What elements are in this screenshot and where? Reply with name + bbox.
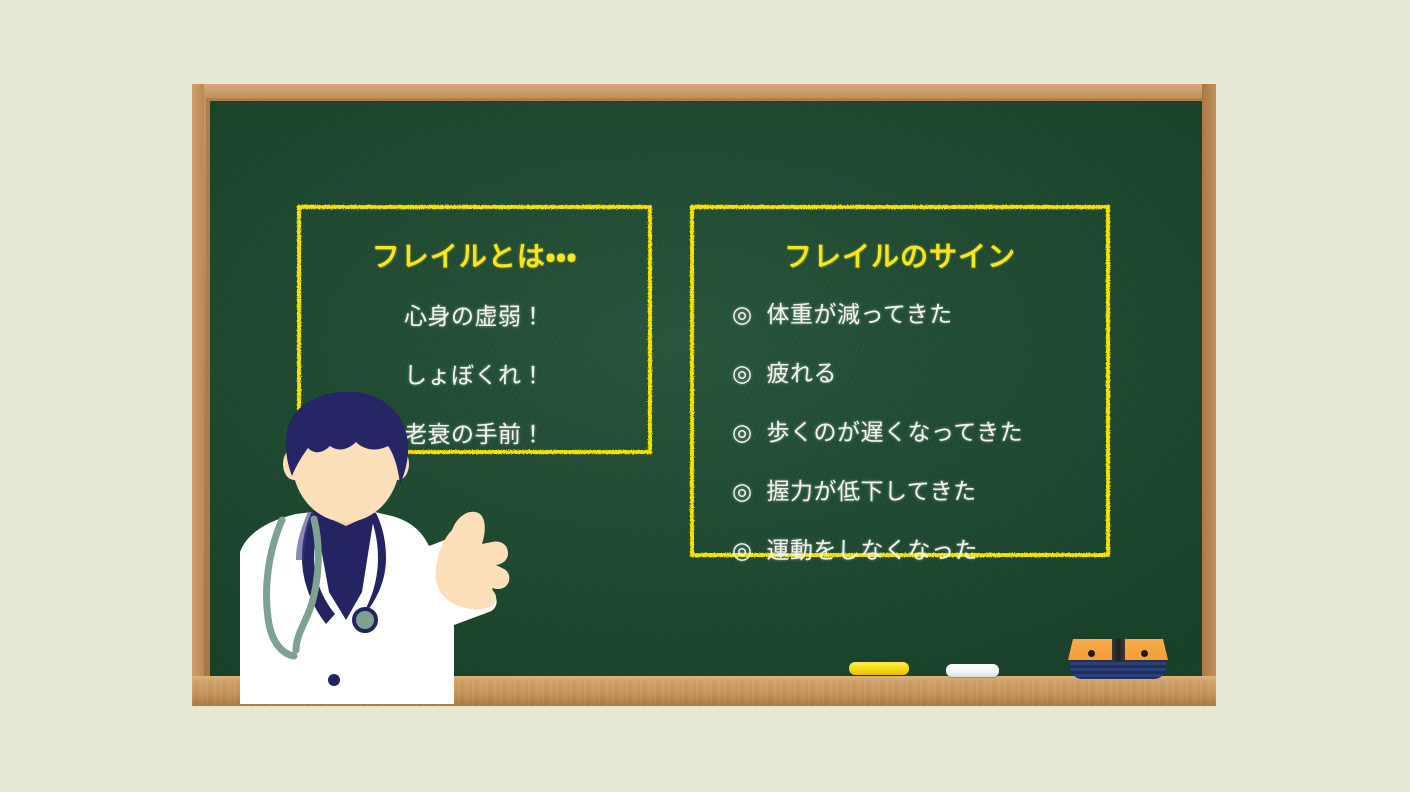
- list-item: ◎ 歩くのが遅くなってきた: [732, 413, 1110, 447]
- white-chalk: [946, 664, 999, 677]
- yellow-chalk: [849, 662, 909, 675]
- stethoscope-chestpiece: [354, 609, 376, 631]
- double-circle-bullet-icon: ◎: [732, 419, 753, 445]
- line-text: 疲れる: [766, 360, 837, 386]
- coat-button: [328, 674, 340, 686]
- blackboard-eraser: [1068, 639, 1168, 679]
- line-text: しょぼくれ！: [404, 362, 545, 388]
- line-text: 心身の虚弱！: [404, 303, 545, 329]
- double-circle-bullet-icon: ◎: [732, 537, 753, 563]
- panel-title-frailty-signs: フレイルのサイン: [690, 235, 1110, 275]
- doctor-illustration: [196, 392, 526, 704]
- list-item: ◎ 握力が低下してきた: [732, 472, 1110, 506]
- line-list-frailty-signs: ◎ 体重が減ってきた ◎ 疲れる ◎ 歩くのが遅くなってきた ◎ 握力が低下して…: [690, 295, 1110, 565]
- list-item: ◎ 体重が減ってきた: [732, 295, 1110, 329]
- line-text: 歩くのが遅くなってきた: [766, 419, 1023, 445]
- double-circle-bullet-icon: ◎: [732, 478, 753, 504]
- double-circle-bullet-icon: ◎: [732, 301, 753, 327]
- list-item: 心身の虚弱！: [297, 297, 652, 331]
- frame-bevel-top: [192, 84, 1216, 97]
- eraser-strap: [1112, 639, 1125, 661]
- double-circle-bullet-icon: ◎: [732, 360, 753, 386]
- panel-frailty-signs: フレイルのサイン ◎ 体重が減ってきた ◎ 疲れる ◎ 歩くのが遅くなってきた …: [690, 205, 1110, 590]
- slide-canvas: フレイルとは・・・ 心身の虚弱！ しょぼくれ！ 老衰の手前！ フレイルのサイン …: [0, 0, 1410, 792]
- frame-bevel-right: [1202, 84, 1216, 706]
- line-text: 運動をしなくなった: [766, 537, 978, 563]
- list-item: ◎ 疲れる: [732, 354, 1110, 388]
- eraser-rivet-left-icon: [1088, 650, 1095, 657]
- line-text: 体重が減ってきた: [766, 301, 952, 327]
- eraser-rivet-right-icon: [1141, 650, 1148, 657]
- line-text: 握力が低下してきた: [766, 478, 976, 504]
- pointing-hand: [436, 512, 510, 610]
- panel-title-what-is-frailty: フレイルとは・・・: [297, 235, 652, 275]
- list-item: しょぼくれ！: [297, 356, 652, 390]
- list-item: ◎ 運動をしなくなった: [732, 531, 1110, 565]
